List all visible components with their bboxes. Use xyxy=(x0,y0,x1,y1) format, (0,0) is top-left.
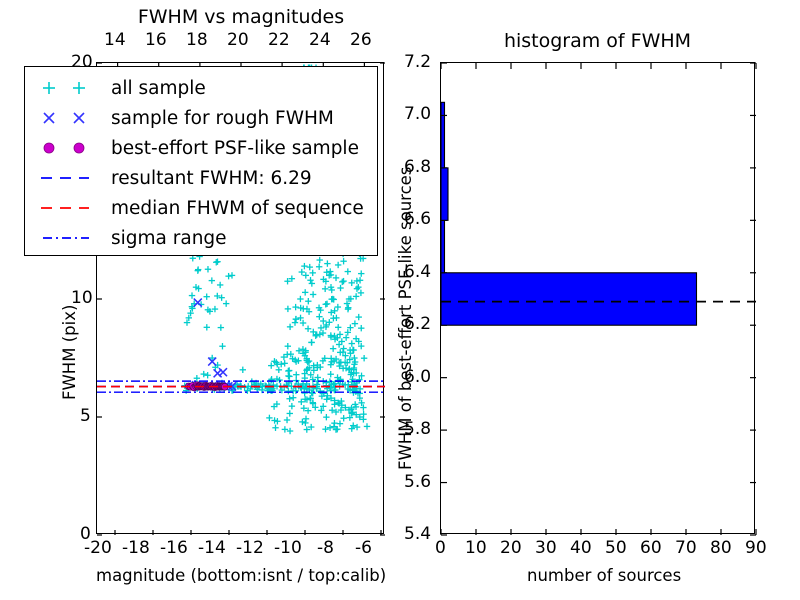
top-tick-16: 16 xyxy=(145,30,167,50)
hist-xtick-90: 90 xyxy=(745,538,767,558)
histogram-bar xyxy=(441,168,448,220)
hist-xtick-80: 80 xyxy=(710,538,732,558)
scatter-rough-sample xyxy=(192,299,236,391)
hist-xtick-50: 50 xyxy=(605,538,627,558)
right-panel-title: histogram of FWHM xyxy=(440,30,755,52)
histogram-bar xyxy=(441,102,445,115)
top-tick-14: 14 xyxy=(104,30,126,50)
histogram-bar xyxy=(441,115,445,167)
xtick-n18: -18 xyxy=(122,538,150,558)
legend-item-median-fwhm[interactable]: median FHWM of sequence xyxy=(33,193,367,223)
left-panel-title: FWHM vs magnitudes xyxy=(96,6,386,28)
legend-item-sigma-range[interactable]: sigma range xyxy=(33,223,367,253)
legend-item-resultant-fwhm[interactable]: resultant FWHM: 6.29 xyxy=(33,163,367,193)
legend-label-median-fwhm: median FHWM of sequence xyxy=(105,198,364,219)
hist-ytick-7p2: 7.2 xyxy=(404,52,431,72)
hist-xtick-70: 70 xyxy=(675,538,697,558)
red-dashed-line-icon xyxy=(33,194,105,222)
hist-xtick-30: 30 xyxy=(535,538,557,558)
blue-dashed-line-icon xyxy=(33,164,105,192)
hist-xtick-10: 10 xyxy=(465,538,487,558)
hist-ytick-7p0: 7.0 xyxy=(404,104,431,124)
scatter-psf-sample xyxy=(185,382,228,391)
legend-label-all-sample: all sample xyxy=(105,78,206,99)
ytick-5: 5 xyxy=(80,406,91,426)
histogram-bar xyxy=(441,273,697,325)
legend-item-psf-sample[interactable]: best-effort PSF-like sample xyxy=(33,133,367,163)
hist-ytick-5p4: 5.4 xyxy=(404,524,431,544)
hist-xtick-40: 40 xyxy=(570,538,592,558)
top-tick-24: 24 xyxy=(309,30,331,50)
cross-marker-icon xyxy=(33,104,105,132)
top-tick-22: 22 xyxy=(268,30,290,50)
legend-label-resultant-fwhm: resultant FWHM: 6.29 xyxy=(105,168,312,189)
legend-item-all-sample[interactable]: all sample xyxy=(33,73,367,103)
xtick-n14: -14 xyxy=(198,538,226,558)
right-axis-ticks xyxy=(380,63,385,535)
right-panel-xlabel: number of sources xyxy=(527,566,681,585)
xtick-n16: -16 xyxy=(160,538,188,558)
histogram-bars xyxy=(441,102,697,325)
legend-label-rough-sample: sample for rough FWHM xyxy=(105,108,334,129)
hist-xtick-20: 20 xyxy=(500,538,522,558)
legend-item-rough-sample[interactable]: sample for rough FWHM xyxy=(33,103,367,133)
hist-top-ticks xyxy=(441,63,756,69)
bottom-axis-ticks xyxy=(115,530,381,535)
hist-bottom-ticks xyxy=(441,529,756,535)
left-panel-ylabel: FWHM (pix) xyxy=(60,305,79,400)
hist-right-ticks xyxy=(750,63,756,535)
xtick-n20: -20 xyxy=(84,538,112,558)
figure-canvas: FWHM vs magnitudes 14 16 18 20 22 24 26 … xyxy=(0,0,800,600)
dot-marker-icon xyxy=(33,134,105,162)
left-panel-xlabel: magnitude (bottom:isnt / top:calib) xyxy=(96,566,386,585)
histogram-axes[interactable] xyxy=(440,62,755,534)
legend-label-psf-sample: best-effort PSF-like sample xyxy=(105,138,359,159)
xtick-n12: -12 xyxy=(236,538,264,558)
xtick-n6: -6 xyxy=(355,538,372,558)
legend-label-sigma-range: sigma range xyxy=(105,228,227,249)
top-tick-20: 20 xyxy=(227,30,249,50)
histogram-bar xyxy=(441,220,445,272)
hist-ytick-5p6: 5.6 xyxy=(404,472,431,492)
blue-dashdot-line-icon xyxy=(33,224,105,252)
plus-marker-icon xyxy=(33,74,105,102)
xtick-n10: -10 xyxy=(274,538,302,558)
hist-xtick-60: 60 xyxy=(640,538,662,558)
hist-xtick-0: 0 xyxy=(435,538,446,558)
histogram-svg xyxy=(441,63,756,535)
top-tick-18: 18 xyxy=(186,30,208,50)
top-tick-26: 26 xyxy=(350,30,372,50)
xtick-n8: -8 xyxy=(317,538,334,558)
right-panel-ylabel: FWHM of best-effort PSF-like sources xyxy=(396,167,415,470)
plot-legend[interactable]: all sample sample for rough FWHM b xyxy=(24,66,378,256)
